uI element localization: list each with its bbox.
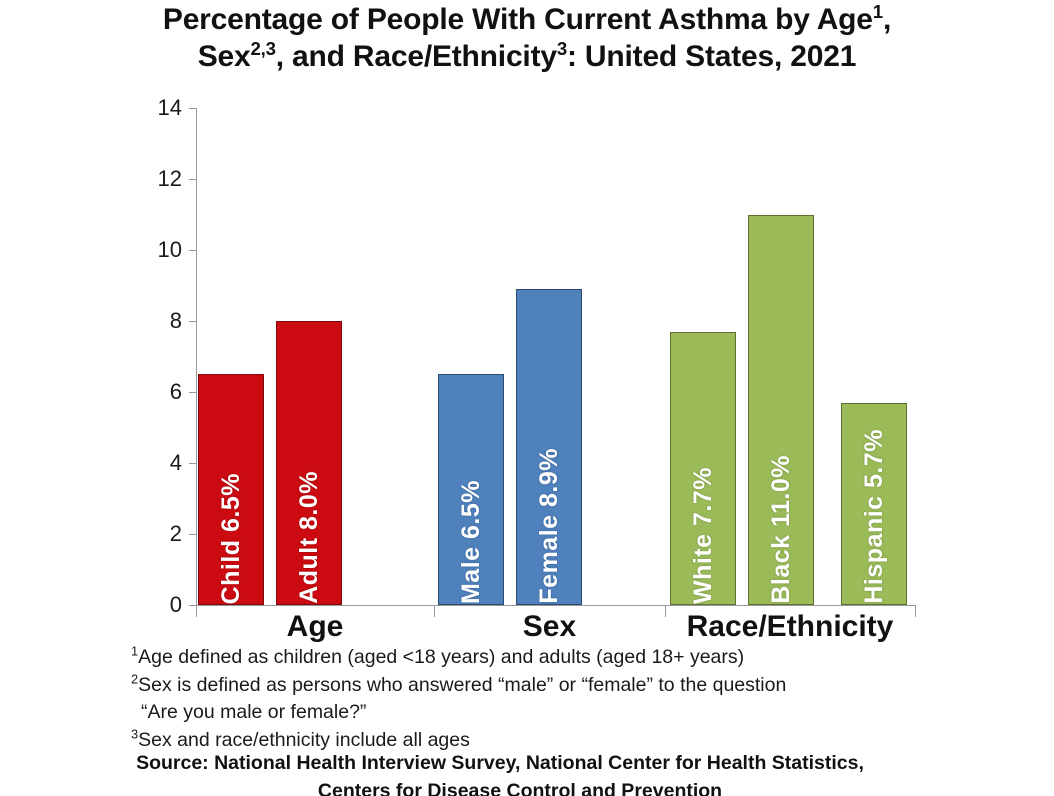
plot-area: Child 6.5%Adult 8.0%Male 6.5%Female 8.9%… bbox=[197, 108, 915, 605]
bar-value-label: Adult 8.0% bbox=[295, 463, 324, 604]
bar-child: Child 6.5% bbox=[198, 374, 264, 605]
bar-female: Female 8.9% bbox=[516, 289, 582, 605]
bar-value-label: Female 8.9% bbox=[535, 440, 564, 604]
title-line-1-comma: , bbox=[883, 3, 891, 36]
footnote-1: 1Age defined as children (aged <18 years… bbox=[131, 644, 991, 672]
y-axis-tick-label: 2 bbox=[134, 521, 182, 547]
y-axis-tick-label: 12 bbox=[134, 166, 182, 192]
bar-value-label: Child 6.5% bbox=[217, 465, 246, 604]
y-axis-tick-label: 6 bbox=[134, 379, 182, 405]
title-line-1-text: Percentage of People With Current Asthma… bbox=[163, 3, 873, 36]
y-axis-tick-label: 10 bbox=[134, 237, 182, 263]
bar-value-label: White 7.7% bbox=[689, 459, 718, 604]
title-superscript-2-3: 2,3 bbox=[251, 38, 276, 59]
footnote-2: 2Sex is defined as persons who answered … bbox=[131, 672, 991, 700]
footnote-2-continued: “Are you male or female?” bbox=[131, 699, 991, 727]
bar-hispanic: Hispanic 5.7% bbox=[841, 403, 907, 605]
bar-adult: Adult 8.0% bbox=[276, 321, 342, 605]
title-superscript-3: 3 bbox=[557, 38, 567, 59]
title-line-2-sex: Sex bbox=[198, 40, 251, 73]
title-line-2-tail: : United States, 2021 bbox=[567, 40, 856, 73]
y-axis-tick-label: 14 bbox=[134, 95, 182, 121]
x-axis-group-label-age: Age bbox=[196, 610, 434, 644]
x-axis-group-label-sex: Sex bbox=[434, 610, 665, 644]
y-axis-tick-label: 4 bbox=[134, 450, 182, 476]
footnote-1-text: Age defined as children (aged <18 years)… bbox=[138, 646, 744, 668]
bar-white: White 7.7% bbox=[670, 332, 736, 605]
x-axis-line bbox=[196, 605, 915, 606]
footnote-3-text: Sex and race/ethnicity include all ages bbox=[138, 729, 470, 751]
bar-male: Male 6.5% bbox=[438, 374, 504, 605]
footnote-2-text: Sex is defined as persons who answered “… bbox=[138, 674, 786, 696]
bar-value-label: Hispanic 5.7% bbox=[860, 421, 889, 604]
y-axis-tick-label: 8 bbox=[134, 308, 182, 334]
y-axis-tick-label: 0 bbox=[134, 592, 182, 618]
title-superscript-1: 1 bbox=[873, 1, 883, 22]
bar-black: Black 11.0% bbox=[748, 215, 814, 606]
title-line-2-race: , and Race/Ethnicity bbox=[276, 40, 557, 73]
footnotes: 1Age defined as children (aged <18 years… bbox=[131, 644, 991, 755]
chart-page: Percentage of People With Current Asthma… bbox=[0, 0, 1054, 796]
source-note: Source: National Health Interview Survey… bbox=[0, 750, 1000, 796]
source-line-2: Centers for Disease Control and Preventi… bbox=[0, 778, 1000, 796]
bar-value-label: Black 11.0% bbox=[767, 447, 796, 604]
source-line-1: Source: National Health Interview Survey… bbox=[0, 750, 1000, 778]
bar-value-label: Male 6.5% bbox=[457, 472, 486, 604]
x-axis-group-label-race: Race/Ethnicity bbox=[665, 610, 915, 644]
x-axis-group-separator bbox=[915, 605, 916, 617]
